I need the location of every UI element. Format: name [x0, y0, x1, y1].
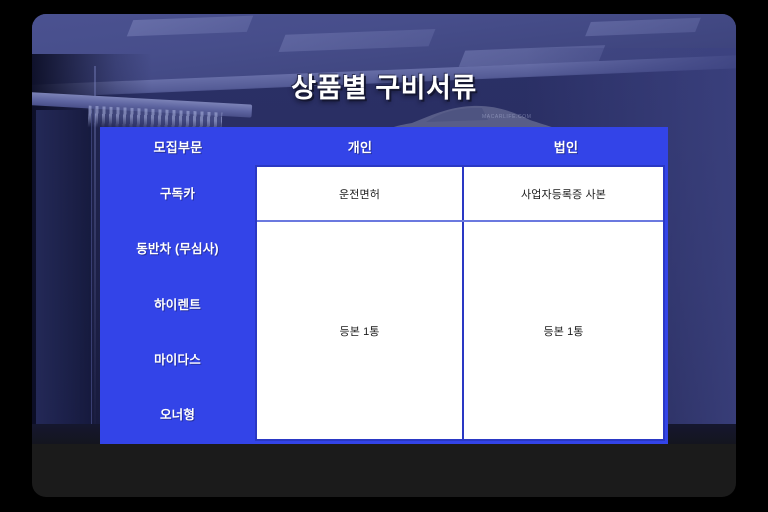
cell-corporate-merged: 등본 1통 — [464, 222, 663, 439]
row-label-owner-type: 오너형 — [100, 386, 255, 441]
row-label-companion-car: 동반차 (무심사) — [100, 220, 255, 275]
column-header-corporate: 법인 — [464, 127, 668, 165]
watermark-text: MACARLIFE.COM — [482, 114, 531, 120]
page-title: 상품별 구비서류 — [32, 66, 736, 105]
door-panel — [36, 110, 92, 440]
row-label-midas: 마이다스 — [100, 331, 255, 386]
column-header-category: 모집부문 — [100, 127, 256, 165]
row-label-column: 구독카 동반차 (무심사) 하이렌트 마이다스 오너형 — [100, 165, 255, 441]
table-row: 운전면허 사업자등록증 사본 — [257, 167, 663, 222]
table-row-merged: 등본 1통 등본 1통 — [257, 222, 663, 439]
cell-personal-subscription: 운전면허 — [257, 167, 464, 220]
table-body: 구독카 동반차 (무심사) 하이렌트 마이다스 오너형 운전면허 사업자등록증 … — [100, 165, 668, 444]
requirements-table: 모집부문 개인 법인 구독카 동반차 (무심사) 하이렌트 마이다스 오너형 운… — [100, 127, 668, 444]
screenshot-root: MACARLIFE.COM 상품별 구비서류 모집부문 개인 법인 구독카 동반… — [0, 0, 768, 512]
row-label-subscription: 구독카 — [100, 165, 255, 220]
column-header-personal: 개인 — [256, 127, 464, 165]
row-label-high-rent: 하이렌트 — [100, 275, 255, 330]
cell-personal-merged: 등본 1통 — [257, 222, 464, 439]
presentation-slide: MACARLIFE.COM 상품별 구비서류 모집부문 개인 법인 구독카 동반… — [32, 14, 736, 497]
table-data-area: 운전면허 사업자등록증 사본 등본 1통 등본 1통 — [255, 165, 665, 441]
table-header-row: 모집부문 개인 법인 — [100, 127, 668, 165]
cell-corporate-subscription: 사업자등록증 사본 — [464, 167, 663, 220]
